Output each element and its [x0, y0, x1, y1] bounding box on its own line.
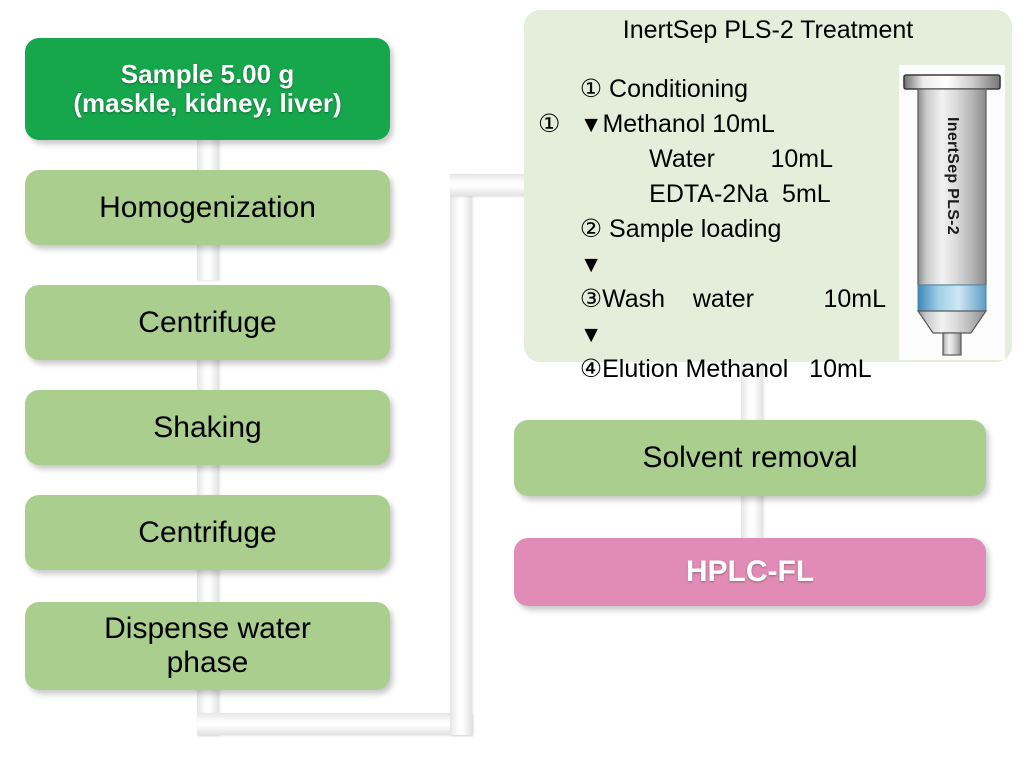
flow-box-centrifuge-1[interactable]: Centrifuge	[25, 285, 390, 360]
inertsep-treatment-panel: InertSep PLS-2 Treatment ① ① Conditionin…	[524, 10, 1012, 362]
arrow-down-icon-3: ▼	[580, 321, 603, 347]
panel-line-1-text: Conditioning	[602, 75, 748, 103]
connector-bottom-horizontal-segment	[197, 713, 472, 735]
flow-box-solvent-removal-label: Solvent removal	[642, 441, 857, 475]
flow-box-sample-line2: (maskle, kidney, liver)	[73, 89, 341, 118]
flow-box-centrifuge-2-label: Centrifuge	[138, 516, 276, 550]
flow-box-shaking-label: Shaking	[153, 411, 261, 445]
flow-box-homogenization-label: Homogenization	[99, 191, 316, 225]
panel-line-3-text: Water 10mL	[580, 145, 833, 173]
panel-line-1-marker: ①	[580, 75, 602, 103]
panel-line-7-marker: ③	[580, 285, 602, 313]
panel-line-7-text: Wash water 10mL	[602, 285, 886, 313]
flow-box-solvent-removal[interactable]: Solvent removal	[514, 420, 986, 496]
flow-box-dispense-water-phase[interactable]: Dispense water phase	[25, 602, 390, 690]
arrow-down-icon-2: ▼	[580, 251, 603, 277]
panel-line-2-text: Methanol 10mL	[602, 110, 774, 138]
panel-line-4-text: EDTA-2Na 5mL	[580, 180, 831, 208]
flow-box-hplc-fl[interactable]: HPLC-FL	[514, 538, 986, 606]
flow-box-dispense-line2: phase	[167, 646, 249, 680]
flow-box-centrifuge-2[interactable]: Centrifuge	[25, 495, 390, 570]
connector-centrifuge2-to-dispense	[197, 565, 219, 607]
panel-line-5-marker: ②	[580, 215, 602, 243]
flow-box-shaking[interactable]: Shaking	[25, 390, 390, 465]
arrow-down-icon-1: ▼	[580, 111, 603, 137]
spe-cartridge-illustration: InertSep PLS-2	[897, 65, 1007, 360]
panel-line-9-text: Elution Methanol 10mL	[602, 355, 872, 383]
cartridge-label: InertSep PLS-2	[943, 117, 961, 235]
flow-box-homogenization[interactable]: Homogenization	[25, 170, 390, 245]
panel-line-9-marker: ④	[580, 355, 602, 383]
flow-box-sample[interactable]: Sample 5.00 g (maskle, kidney, liver)	[25, 38, 390, 140]
connector-right-riser-segment	[450, 174, 472, 735]
panel-title: InertSep PLS-2 Treatment	[524, 16, 1012, 45]
flow-box-sample-line1: Sample 5.00 g	[121, 60, 294, 89]
panel-line-5-text: Sample loading	[602, 215, 781, 243]
flow-box-dispense-line1: Dispense water	[104, 612, 311, 646]
flow-box-hplc-fl-label: HPLC-FL	[686, 555, 814, 589]
flow-box-centrifuge-1-label: Centrifuge	[138, 306, 276, 340]
